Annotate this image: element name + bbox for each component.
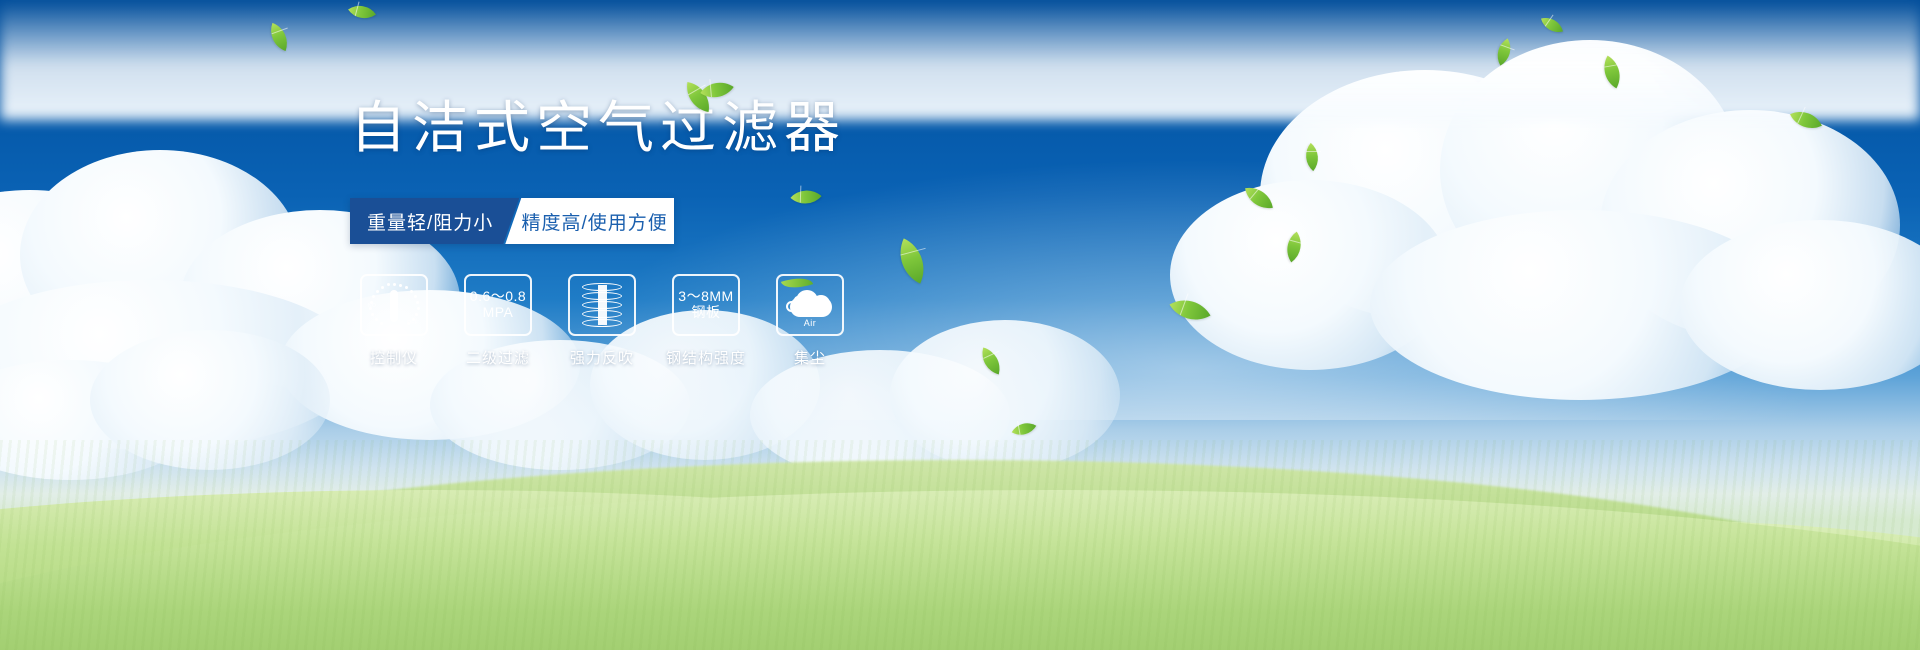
feature-label: 二级过滤 [466, 347, 530, 368]
feature-label: 控制仪 [370, 347, 418, 368]
tagline-left: 重量轻/阻力小 [350, 198, 519, 244]
feature-steel-strength[interactable]: 3～8MM 钢板 钢结构强度 [662, 274, 750, 368]
feature-icon-box: Air [776, 274, 844, 336]
gauge-icon: NO OFF [369, 282, 419, 328]
feature-label: 集尘 [794, 347, 826, 368]
pressure-value: 0.6～0.8 [470, 289, 526, 305]
title-leaf-cluster [683, 78, 743, 112]
feature-icon-box [568, 274, 636, 336]
tagline-bar: 重量轻/阻力小 精度高/使用方便 [350, 198, 674, 244]
steel-material: 钢板 [692, 305, 721, 321]
tagline-right: 精度高/使用方便 [505, 198, 674, 244]
steel-thickness: 3～8MM [678, 289, 733, 305]
product-hero-banner: 自洁式空气过滤器 重量轻/阻力小 精度高/使用方便 NO OFF [0, 0, 1920, 650]
air-label: Air [784, 318, 836, 328]
grass-texture [0, 440, 1920, 650]
feature-strong-backblow[interactable]: 强力反吹 [558, 274, 646, 368]
feature-icon-row: NO OFF [350, 274, 1070, 368]
air-cloud-icon: Air [784, 285, 836, 325]
banner-content: 自洁式空气过滤器 重量轻/阻力小 精度高/使用方便 NO OFF [350, 100, 1070, 368]
feature-label: 强力反吹 [570, 347, 634, 368]
feature-icon-box: 0.6～0.8 MPA [464, 274, 532, 336]
feature-control-instrument[interactable]: NO OFF [350, 274, 438, 368]
coil-icon [582, 283, 622, 327]
feature-two-stage-filter[interactable]: 0.6～0.8 MPA 二级过滤 [454, 274, 542, 368]
feature-icon-box: NO OFF [360, 274, 428, 336]
feature-icon-box: 3～8MM 钢板 [672, 274, 740, 336]
pressure-unit: MPA [483, 305, 514, 321]
feature-label: 钢结构强度 [666, 347, 746, 368]
feature-dust-collection[interactable]: Air 集尘 [766, 274, 854, 368]
title-wrap: 自洁式空气过滤器 [350, 100, 1070, 178]
